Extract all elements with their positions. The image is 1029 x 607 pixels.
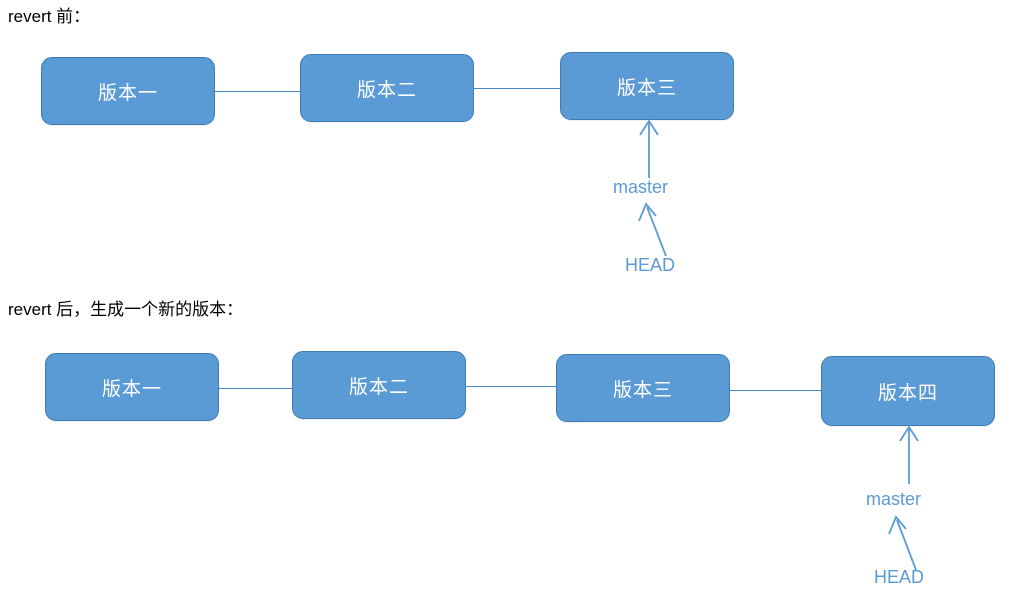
ref-label-head-before: HEAD <box>625 256 675 274</box>
arrow-head-to-master-before <box>635 200 685 260</box>
diagram-canvas: revert 前： 版本一 版本二 版本三 master HEAD revert… <box>0 0 1029 607</box>
caption-after-revert: revert 后，生成一个新的版本： <box>8 301 243 318</box>
commit-box-after-4[interactable]: 版本四 <box>821 356 995 426</box>
ref-label-head-after: HEAD <box>874 568 924 586</box>
commit-box-after-1[interactable]: 版本一 <box>45 353 219 421</box>
arrow-head-to-master-after <box>885 512 935 574</box>
connector-v1-v2-after <box>218 388 293 389</box>
commit-box-before-1[interactable]: 版本一 <box>41 57 215 125</box>
connector-v1-v2 <box>214 91 301 92</box>
connector-v2-v3-after <box>465 386 557 387</box>
commit-box-before-3[interactable]: 版本三 <box>560 52 734 120</box>
ref-label-master-before: master <box>613 178 668 196</box>
commit-box-before-2[interactable]: 版本二 <box>300 54 474 122</box>
connector-v3-v4-after <box>729 390 822 391</box>
caption-before-revert: revert 前： <box>8 8 90 25</box>
ref-label-master-after: master <box>866 490 921 508</box>
arrow-master-to-version4 <box>890 424 930 486</box>
commit-box-after-3[interactable]: 版本三 <box>556 354 730 422</box>
arrow-master-to-version3 <box>630 118 670 180</box>
connector-v2-v3 <box>473 88 561 89</box>
commit-box-after-2[interactable]: 版本二 <box>292 351 466 419</box>
